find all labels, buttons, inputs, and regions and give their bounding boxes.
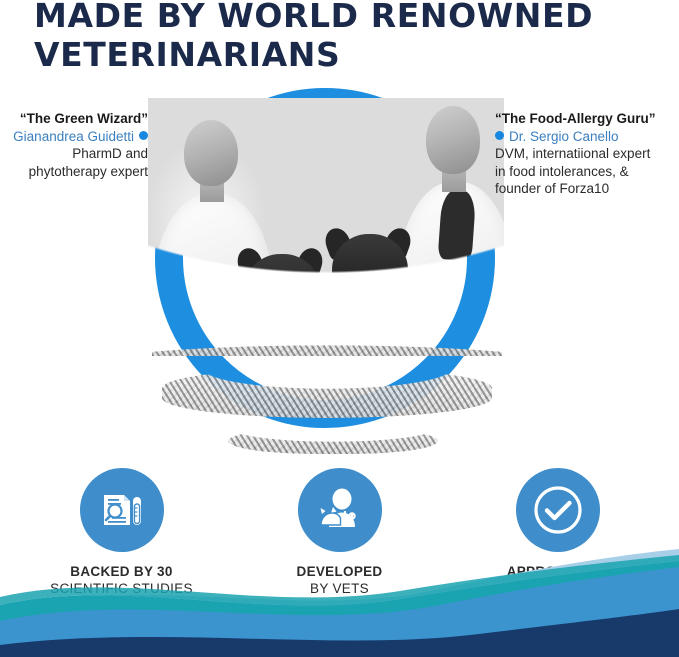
vet-with-dog-icon <box>315 485 365 535</box>
vet-right-shirt <box>438 189 477 261</box>
document-magnifier-testtube-icon <box>98 486 146 534</box>
expert-right-name: Dr. Sergio Canello <box>509 129 619 144</box>
badge-circle <box>516 468 600 552</box>
expert-caption-right: “The Food-Allergy Guru” Dr. Sergio Canel… <box>495 110 679 198</box>
bottom-wave-decoration <box>0 547 679 657</box>
check-circle-icon <box>530 482 586 538</box>
expert-right-role-line-2: in food intolerances, & <box>495 163 679 181</box>
accent-dot-icon <box>495 131 504 140</box>
accent-dot-icon <box>139 131 148 140</box>
photo-strip-3 <box>228 428 438 454</box>
vet-right-head <box>426 106 480 174</box>
veterinarians-photo <box>148 98 504 356</box>
expert-right-role-line-1: DVM, internatiional expert <box>495 145 679 163</box>
expert-left-name: Gianandrea Guidetti <box>13 129 134 144</box>
expert-left-role-line-2: phytotherapy expert <box>0 163 148 181</box>
photo-strip-1 <box>152 330 502 356</box>
expert-right-role-line-3: founder of Forza10 <box>495 180 679 198</box>
expert-caption-left: “The Green Wizard” Gianandrea Guidetti P… <box>0 110 148 180</box>
expert-left-role-line-1: PharmD and <box>0 145 148 163</box>
wavy-photo-strips <box>0 330 679 460</box>
photo-strip-2 <box>162 368 492 418</box>
expert-left-nickname: “The Green Wizard” <box>0 110 148 128</box>
dog-right-nose <box>361 290 377 302</box>
dog-left-nose <box>273 310 289 322</box>
badge-circle <box>298 468 382 552</box>
page-title: MADE BY WORLD RENOWNED VETERINARIANS <box>34 0 634 74</box>
vet-left-head <box>184 120 238 186</box>
expert-right-nickname: “The Food-Allergy Guru” <box>495 110 679 128</box>
badge-circle <box>80 468 164 552</box>
